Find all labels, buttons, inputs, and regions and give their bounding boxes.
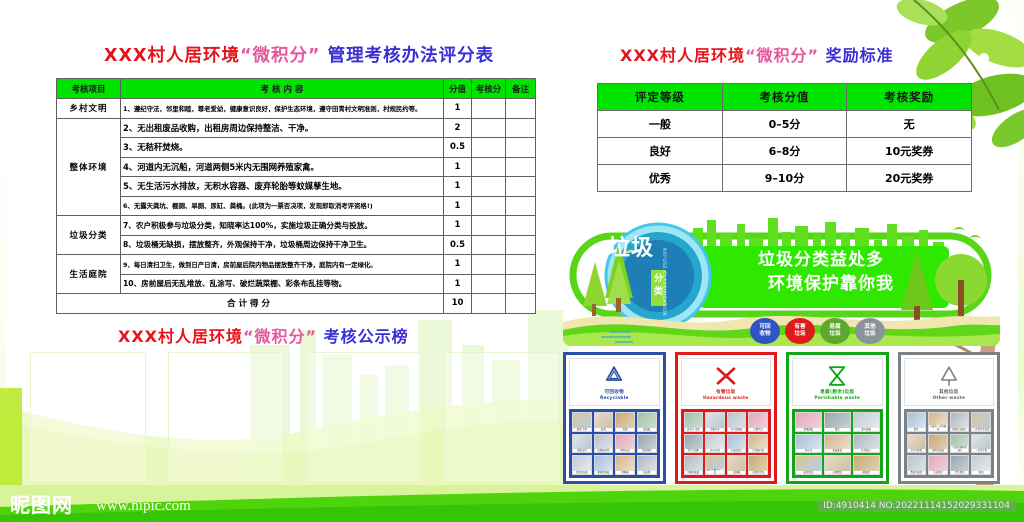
classification-item-thumbnail — [685, 413, 703, 428]
banner-slogan: 垃圾分类益处多 环境保护靠你我 — [706, 248, 936, 296]
classification-item-label: 一次性竹签牙签 — [972, 428, 990, 431]
title-blue-part: 管理考核办法评分表 — [328, 46, 495, 66]
classification-item-label: 保鲜包装膜 — [929, 449, 947, 452]
classification-item-thumbnail — [854, 413, 879, 428]
classification-item-label: 一次性手套 — [972, 449, 990, 452]
score-content-cell: 8、垃圾桶无缺损，摆放整齐，外观保持干净，垃圾桶周边保持干净卫生。 — [121, 235, 444, 255]
classification-card-title-en: Hazardous waste — [703, 396, 748, 401]
classification-item: 过期食品 — [824, 455, 851, 475]
blank-frame — [444, 352, 560, 482]
score-content-cell: 9、每日清扫卫生，做到日产日清，房前屋后院内物品摆放整齐干净，庭院内有一定绿化。 — [121, 255, 444, 275]
score-value-cell: 1 — [444, 177, 472, 197]
classification-item-thumbnail — [595, 413, 613, 428]
reward-table-header-row: 评定等级 考核分值 考核奖励 — [598, 84, 972, 111]
classification-card-header: 易腐(厨余)垃圾Perishable waste — [792, 358, 883, 406]
table-row: 整体环境2、无出租废品收购，出租房周边保持整洁、干净。2 — [57, 118, 536, 138]
classification-item-thumbnail — [854, 456, 879, 471]
blank-frame — [306, 352, 422, 482]
classification-item-thumbnail — [796, 456, 821, 471]
score-result-cell[interactable] — [472, 255, 506, 275]
score-category-cell: 垃圾分类 — [57, 216, 121, 255]
classification-item-thumbnail — [972, 435, 990, 450]
classification-item: 废旧电器电子产品 — [705, 455, 725, 475]
classification-item-label: 旧衣物 — [638, 471, 656, 474]
garbage-classification-banner: 垃圾 分类 REFUSE CLASSIFICATION 垃圾分类益处多 环境保护… — [563, 218, 1000, 346]
score-header-cell: 考 核 内 容 — [121, 79, 444, 99]
reward-table: 评定等级 考核分值 考核奖励 一般0–5分无良好6–8分10元奖券优秀9–10分… — [597, 83, 972, 192]
classification-item-label: 日用化学品 — [749, 471, 767, 474]
score-total-remark-cell[interactable] — [506, 294, 536, 314]
classification-item-thumbnail — [908, 435, 926, 450]
classification-item-label: 注射器针管 — [749, 449, 767, 452]
classification-item-thumbnail — [908, 413, 926, 428]
classification-item: 陶瓷洁具 — [572, 434, 592, 454]
classification-item: 油漆桶 — [727, 455, 747, 475]
classification-item: 充电宝·电池 — [684, 412, 704, 432]
classification-item-thumbnail — [972, 456, 990, 471]
classification-item-thumbnail — [573, 435, 591, 450]
classification-item-thumbnail — [706, 456, 724, 468]
classification-item-label: 笔类 — [972, 471, 990, 474]
classification-item-thumbnail — [951, 435, 969, 447]
reward-cell: 20元奖券 — [847, 165, 972, 192]
recycle-arrows-icon — [597, 364, 631, 388]
classification-item-thumbnail — [706, 413, 724, 428]
title-blue-part: 考核公示榜 — [324, 327, 409, 346]
classification-item-thumbnail — [685, 435, 703, 450]
score-header-cell: 分值 — [444, 79, 472, 99]
other-waste-icon — [932, 364, 966, 388]
category-badge-line2: 垃圾 — [864, 331, 875, 338]
title-blue-part: 奖励标准 — [826, 46, 894, 65]
score-value-cell: 0.5 — [444, 235, 472, 255]
classification-item: 菜叶菜根 — [853, 412, 880, 432]
classification-item-label: 水银温度计 — [728, 449, 746, 452]
classification-item-thumbnail — [728, 413, 746, 428]
banner-slogan-line2: 环境保护靠你我 — [706, 272, 936, 296]
banner-logo-text: 垃圾 — [608, 236, 678, 310]
score-category-cell: 乡村文明 — [57, 99, 121, 119]
classification-item-thumbnail — [728, 435, 746, 450]
classification-item-thumbnail — [796, 435, 821, 450]
classification-item-thumbnail — [796, 413, 821, 428]
classification-item-thumbnail — [638, 435, 656, 450]
score-value-cell: 0.5 — [444, 138, 472, 158]
classification-item: 塑料桶 — [615, 455, 635, 475]
table-row: 优秀9–10分20元奖券 — [598, 165, 972, 192]
classification-item-grid: 剩菜剩饭蛋壳菜叶菜根茶叶渣果皮果核花草枝叶厨房残渣过期食品剩饭菜 — [792, 409, 883, 478]
classification-item-label: 塑料桶 — [616, 471, 634, 474]
classification-item: 一次性手套 — [971, 434, 991, 454]
title-pink-part: “微积分” — [243, 327, 317, 346]
classification-item: 污染纸巾 — [928, 455, 948, 475]
classification-item-label: 荧光灯管 — [706, 449, 724, 452]
classification-item: 报纸·书本 — [572, 412, 592, 432]
classification-card-title-cn: 易腐(厨余)垃圾 — [820, 389, 854, 395]
reward-cell: 9–10分 — [722, 165, 847, 192]
score-result-cell[interactable] — [472, 99, 506, 119]
classification-item-thumbnail — [595, 456, 613, 471]
classification-item-thumbnail — [929, 435, 947, 450]
classification-item-grid: 烟头污染的一次性餐具陶瓷花盆碎片一次性竹签牙签卫生间用纸保鲜包装膜污染的塑料袋(… — [904, 409, 995, 478]
score-remark-cell[interactable] — [506, 216, 536, 236]
classification-item: 旧棉被衣物 — [594, 434, 614, 454]
category-badge-line1: 有害 — [794, 324, 805, 331]
classification-item: 剩饭菜 — [853, 455, 880, 475]
table-row: 3、无秸秆焚烧。0.5 — [57, 138, 536, 158]
classification-item-thumbnail — [573, 456, 591, 471]
classification-item: 厨房残渣 — [795, 455, 822, 475]
table-row: 一般0–5分无 — [598, 111, 972, 138]
score-total-result-cell[interactable] — [472, 294, 506, 314]
classification-item: 保鲜包装膜 — [928, 434, 948, 454]
category-badge-line2: 垃圾 — [829, 331, 840, 338]
classification-card-title-cn: 可回收物 — [604, 389, 624, 395]
reward-header-cell: 评定等级 — [598, 84, 723, 111]
classification-item-label: 卫生间用纸 — [908, 449, 926, 452]
poster-canvas: XXX村人居环境“微积分” 管理考核办法评分表 XXX村人居环境“微积分” 奖励… — [0, 0, 1024, 522]
reward-cell: 一般 — [598, 111, 723, 138]
classification-card: 可回收物Recyclable报纸·书本鞋类纸箱玻璃瓶陶瓷洁具旧棉被衣物塑料花束金… — [563, 352, 666, 484]
watermark-logo: 昵图网 — [10, 489, 73, 518]
score-result-cell[interactable] — [472, 216, 506, 236]
classification-item-thumbnail — [929, 413, 947, 425]
classification-item: 笔类 — [971, 455, 991, 475]
classification-card-title-cn: 有害垃圾 — [716, 389, 736, 395]
score-header-cell: 备注 — [506, 79, 536, 99]
classification-item-label: 陶瓷洁具 — [573, 449, 591, 452]
classification-item: 玻璃瓶 — [637, 412, 657, 432]
watermark-footer: 昵图网 www.nipic.com ID:4910414 NO:20221114… — [0, 485, 1024, 522]
title-pink-part: “微积分” — [240, 46, 321, 66]
classification-item: 污染的一次性餐具 — [928, 412, 948, 432]
classification-item: 卫生用品 — [950, 455, 970, 475]
score-value-cell: 1 — [444, 255, 472, 275]
classification-item: 过期药片 — [748, 412, 768, 432]
classification-item-label: 消毒药水 — [706, 428, 724, 431]
score-total-value: 10 — [444, 294, 472, 314]
classification-item: 电子线路板 — [727, 412, 747, 432]
classification-item: 剩菜剩饭 — [795, 412, 822, 432]
score-table-header-row: 考核项目 考 核 内 容 分值 考核分 备注 — [57, 79, 536, 99]
classification-item-thumbnail — [728, 456, 746, 471]
classification-item: 鞋类 — [594, 412, 614, 432]
classification-item-thumbnail — [749, 413, 767, 428]
blank-frame — [168, 352, 284, 482]
category-badge: 有害垃圾 — [785, 318, 815, 344]
reward-cell: 无 — [847, 111, 972, 138]
classification-item: 消毒药水 — [705, 412, 725, 432]
classification-item-label: 剩菜剩饭 — [796, 428, 821, 431]
classification-item-thumbnail — [825, 456, 850, 471]
score-result-cell[interactable] — [472, 177, 506, 197]
score-remark-cell[interactable] — [506, 196, 536, 216]
classification-item: 荧光灯管 — [705, 434, 725, 454]
classification-item: 铝箔包装盒 — [572, 455, 592, 475]
score-table: 考核项目 考 核 内 容 分值 考核分 备注 乡村文明1、遵纪守法，邻里和睦，尊… — [56, 78, 536, 314]
table-row: 5、无生活污水排放，无积水容器、废弃轮胎等蚊媒孳生地。1 — [57, 177, 536, 197]
classification-item-label: 纸箱 — [616, 428, 634, 431]
score-result-cell[interactable] — [472, 138, 506, 158]
score-total-row: 合计得分10 — [57, 294, 536, 314]
classification-item-thumbnail — [638, 456, 656, 471]
classification-card: 有害垃圾Hazardous waste充电宝·电池消毒药水电子线路板过期药片药片… — [675, 352, 778, 484]
score-remark-cell[interactable] — [506, 235, 536, 255]
score-result-cell[interactable] — [472, 118, 506, 138]
score-value-cell: 1 — [444, 99, 472, 119]
classification-card-title-cn: 其他垃圾 — [939, 389, 959, 395]
classification-item: 消毒剂瓶装 — [684, 455, 704, 475]
classification-item-thumbnail — [929, 456, 947, 471]
classification-item: 烟头 — [907, 412, 927, 432]
blank-frame — [30, 352, 146, 482]
banner-logo-main: 垃圾 — [608, 236, 654, 261]
score-remark-cell[interactable] — [506, 138, 536, 158]
classification-item-label: 油漆桶 — [728, 471, 746, 474]
classification-item-label: 花草枝叶 — [854, 449, 879, 452]
classification-item: 茶叶渣 — [795, 434, 822, 454]
category-badge-line1: 可回 — [759, 324, 770, 331]
classification-item-label: 废旧电器电子产品 — [706, 468, 724, 474]
score-value-cell: 1 — [444, 157, 472, 177]
classification-item-label: 过期食品 — [825, 471, 850, 474]
classification-item: 果皮果核 — [824, 434, 851, 454]
title-red-part: XXX村人居环境 — [118, 327, 243, 346]
classification-item-thumbnail — [706, 435, 724, 450]
banner-slogan-line1: 垃圾分类益处多 — [706, 248, 936, 272]
classification-item-thumbnail — [595, 435, 613, 450]
classification-item-label: 茶叶渣 — [796, 449, 821, 452]
classification-item: 纸箱 — [615, 412, 635, 432]
score-content-cell: 4、河道内无沉船，河道两侧5米内无围网养殖家禽。 — [121, 157, 444, 177]
reward-table-body: 一般0–5分无良好6–8分10元奖券优秀9–10分20元奖券 — [598, 111, 972, 192]
score-content-cell: 6、无露天粪坑、棚厕、旱厕、尿缸、粪桶。(此项为一票否决项，发现即取消考评资格!… — [121, 196, 444, 216]
category-badge-row: 可回收物有害垃圾易腐垃圾其他垃圾 — [750, 318, 950, 344]
classification-item: 金属锅具 — [637, 434, 657, 454]
score-content-cell: 1、遵纪守法，邻里和睦，尊老爱幼，健康意识良好，保护生态环境，遵守田青村文明准则… — [121, 99, 444, 119]
reward-cell: 0–5分 — [722, 111, 847, 138]
reward-header-cell: 考核分值 — [722, 84, 847, 111]
classification-item: 蛋壳 — [824, 412, 851, 432]
classification-item: 塑料花束 — [615, 434, 635, 454]
reward-header-cell: 考核奖励 — [847, 84, 972, 111]
score-result-cell[interactable] — [472, 157, 506, 177]
classification-item-thumbnail — [749, 456, 767, 471]
classification-item-thumbnail — [685, 456, 703, 471]
title-red-part: XXX村人居环境 — [104, 46, 240, 66]
classification-item-label: 烟头 — [908, 428, 926, 431]
classification-item-label: 污染的一次性餐具 — [929, 425, 947, 431]
classification-item-thumbnail — [854, 435, 879, 450]
category-badge: 可回收物 — [750, 318, 780, 344]
classification-item-label: 铝箔包装盒 — [573, 471, 591, 474]
score-table-body: 乡村文明1、遵纪守法，邻里和睦，尊老爱幼，健康意识良好，保护生态环境，遵守田青村… — [57, 99, 536, 314]
score-remark-cell[interactable] — [506, 274, 536, 294]
classification-card-title-en: Recyclable — [600, 396, 629, 401]
classification-card: 其他垃圾Other waste烟头污染的一次性餐具陶瓷花盆碎片一次性竹签牙签卫生… — [898, 352, 1001, 484]
score-value-cell: 2 — [444, 118, 472, 138]
title-red-part: XXX村人居环境 — [620, 46, 745, 65]
category-badge-line1: 易腐 — [829, 324, 840, 331]
classification-item-thumbnail — [972, 413, 990, 428]
classification-card-title-en: Perishable waste — [814, 396, 860, 401]
table-row: 4、河道内无沉船，河道两侧5米内无围网养殖家禽。1 — [57, 157, 536, 177]
score-content-cell: 3、无秸秆焚烧。 — [121, 138, 444, 158]
score-content-cell: 2、无出租废品收购，出租房周边保持整洁、干净。 — [121, 118, 444, 138]
score-remark-cell[interactable] — [506, 157, 536, 177]
classification-item-label: 污染的塑料袋(膜) — [951, 446, 969, 452]
score-category-cell: 生活庭院 — [57, 255, 121, 294]
classification-item-label: 果皮果核 — [825, 449, 850, 452]
reward-cell: 优秀 — [598, 165, 723, 192]
classification-item-label: 报纸·书本 — [573, 428, 591, 431]
score-category-cell: 整体环境 — [57, 118, 121, 216]
classification-item: 日用化学品 — [748, 455, 768, 475]
table-row: 10、房前屋后无乱堆放、乱涂写、破烂蔬菜棚、彩条布乱挂等物。1 — [57, 274, 536, 294]
classification-item-label: 鞋类 — [595, 428, 613, 431]
classification-item-grid: 报纸·书本鞋类纸箱玻璃瓶陶瓷洁具旧棉被衣物塑料花束金属锅具铝箔包装盒塑料饮料瓶塑… — [569, 409, 660, 478]
classification-item: 药片·胶囊 — [684, 434, 704, 454]
table-row: 垃圾分类7、农户积极参与垃圾分类，知晓率达100%，实施垃圾正确分类与投放。1 — [57, 216, 536, 236]
classification-item-label: 玻璃瓶 — [638, 428, 656, 431]
classification-item-label: 药片·胶囊 — [685, 449, 703, 452]
score-header-cell: 考核分 — [472, 79, 506, 99]
classification-item-label: 污染纸巾 — [929, 471, 947, 474]
reward-cell: 良好 — [598, 138, 723, 165]
classification-item-thumbnail — [951, 456, 969, 471]
score-header-cell: 考核项目 — [57, 79, 121, 99]
table-row: 8、垃圾桶无缺损，摆放整齐，外观保持干净，垃圾桶周边保持干净卫生。0.5 — [57, 235, 536, 255]
score-result-cell[interactable] — [472, 274, 506, 294]
category-badge-line2: 收物 — [759, 331, 770, 338]
classification-item-label: 食品包装袋 — [908, 471, 926, 474]
classification-item: 水银温度计 — [727, 434, 747, 454]
classification-card-header: 可回收物Recyclable — [569, 358, 660, 406]
classification-item-label: 蛋壳 — [825, 428, 850, 431]
score-content-cell: 10、房前屋后无乱堆放、乱涂写、破烂蔬菜棚、彩条布乱挂等物。 — [121, 274, 444, 294]
classification-item-thumbnail — [825, 413, 850, 428]
hazard-cross-icon — [709, 364, 743, 388]
classification-item: 注射器针管 — [748, 434, 768, 454]
classification-poster-row: 可回收物Recyclable报纸·书本鞋类纸箱玻璃瓶陶瓷洁具旧棉被衣物塑料花束金… — [563, 352, 1000, 484]
classification-item: 花草枝叶 — [853, 434, 880, 454]
table-row: 6、无露天粪坑、棚厕、旱厕、尿缸、粪桶。(此项为一票否决项，发现即取消考评资格!… — [57, 196, 536, 216]
classification-item-label: 塑料饮料瓶 — [595, 471, 613, 474]
classification-item: 塑料饮料瓶 — [594, 455, 614, 475]
classification-item-label: 塑料花束 — [616, 449, 634, 452]
banner-logo-english: REFUSE CLASSIFICATION — [661, 248, 666, 316]
classification-item-label: 旧棉被衣物 — [595, 449, 613, 452]
classification-item: 食品包装袋 — [907, 455, 927, 475]
reward-cell: 10元奖券 — [847, 138, 972, 165]
classification-item: 污染的塑料袋(膜) — [950, 434, 970, 454]
public-display-blank-frames — [30, 352, 560, 482]
classification-item-thumbnail — [749, 435, 767, 450]
table-row: 乡村文明1、遵纪守法，邻里和睦，尊老爱幼，健康意识良好，保护生态环境，遵守田青村… — [57, 99, 536, 119]
category-badge-line1: 其他 — [864, 324, 875, 331]
classification-item-label: 卫生用品 — [951, 471, 969, 474]
classification-item-label: 过期药片 — [749, 428, 767, 431]
reward-cell: 6–8分 — [722, 138, 847, 165]
category-badge: 其他垃圾 — [855, 318, 885, 344]
classification-item-thumbnail — [616, 413, 634, 428]
classification-item-label: 电子线路板 — [728, 428, 746, 431]
score-remark-cell[interactable] — [506, 99, 536, 119]
score-result-cell[interactable] — [472, 235, 506, 255]
table-row: 良好6–8分10元奖券 — [598, 138, 972, 165]
score-content-cell: 7、农户积极参与垃圾分类，知晓率达100%，实施垃圾正确分类与投放。 — [121, 216, 444, 236]
title-pink-part: “微积分” — [745, 46, 819, 65]
watermark-url: www.nipic.com — [96, 498, 191, 515]
hourglass-icon — [820, 364, 854, 388]
classification-item-label: 厨房残渣 — [796, 471, 821, 474]
table-row: 生活庭院9、每日清扫卫生，做到日产日清，房前屋后院内物品摆放整齐干净，庭院内有一… — [57, 255, 536, 275]
classification-item: 陶瓷花盆碎片 — [950, 412, 970, 432]
page-title-score-table: XXX村人居环境“微积分” 管理考核办法评分表 — [104, 46, 494, 66]
score-content-cell: 5、无生活污水排放，无积水容器、废弃轮胎等蚊媒孳生地。 — [121, 177, 444, 197]
classification-card-header: 有害垃圾Hazardous waste — [681, 358, 772, 406]
classification-item-thumbnail — [573, 413, 591, 428]
score-remark-cell[interactable] — [506, 118, 536, 138]
classification-item-thumbnail — [825, 435, 850, 450]
classification-item-label: 金属锅具 — [638, 449, 656, 452]
category-badge: 易腐垃圾 — [820, 318, 850, 344]
category-badge-line2: 垃圾 — [794, 331, 805, 338]
score-remark-cell[interactable] — [506, 177, 536, 197]
classification-item: 旧衣物 — [637, 455, 657, 475]
classification-item-label: 消毒剂瓶装 — [685, 471, 703, 474]
classification-card-title-en: Other waste — [932, 396, 965, 401]
classification-item-thumbnail — [908, 456, 926, 471]
score-result-cell[interactable] — [472, 196, 506, 216]
watermark-id: ID:4910414 NO:20221114152029331104 — [817, 500, 1016, 512]
classification-item: 卫生间用纸 — [907, 434, 927, 454]
score-value-cell: 1 — [444, 274, 472, 294]
classification-item-thumbnail — [616, 435, 634, 450]
classification-item-label: 充电宝·电池 — [685, 428, 703, 431]
classification-item-thumbnail — [951, 413, 969, 428]
score-total-label: 合计得分 — [57, 294, 444, 314]
classification-item: 一次性竹签牙签 — [971, 412, 991, 432]
page-title-reward-table: XXX村人居环境“微积分” 奖励标准 — [620, 46, 894, 66]
score-value-cell: 1 — [444, 216, 472, 236]
classification-item-thumbnail — [616, 456, 634, 471]
score-remark-cell[interactable] — [506, 255, 536, 275]
score-value-cell: 1 — [444, 196, 472, 216]
page-title-public-board: XXX村人居环境“微积分” 考核公示榜 — [118, 327, 409, 347]
classification-card: 易腐(厨余)垃圾Perishable waste剩菜剩饭蛋壳菜叶菜根茶叶渣果皮果… — [786, 352, 889, 484]
classification-item-label: 陶瓷花盆碎片 — [951, 428, 969, 431]
classification-item-thumbnail — [638, 413, 656, 428]
classification-item-grid: 充电宝·电池消毒药水电子线路板过期药片药片·胶囊荧光灯管水银温度计注射器针管消毒… — [681, 409, 772, 478]
classification-item-label: 剩饭菜 — [854, 471, 879, 474]
classification-card-header: 其他垃圾Other waste — [904, 358, 995, 406]
classification-item-label: 菜叶菜根 — [854, 428, 879, 431]
